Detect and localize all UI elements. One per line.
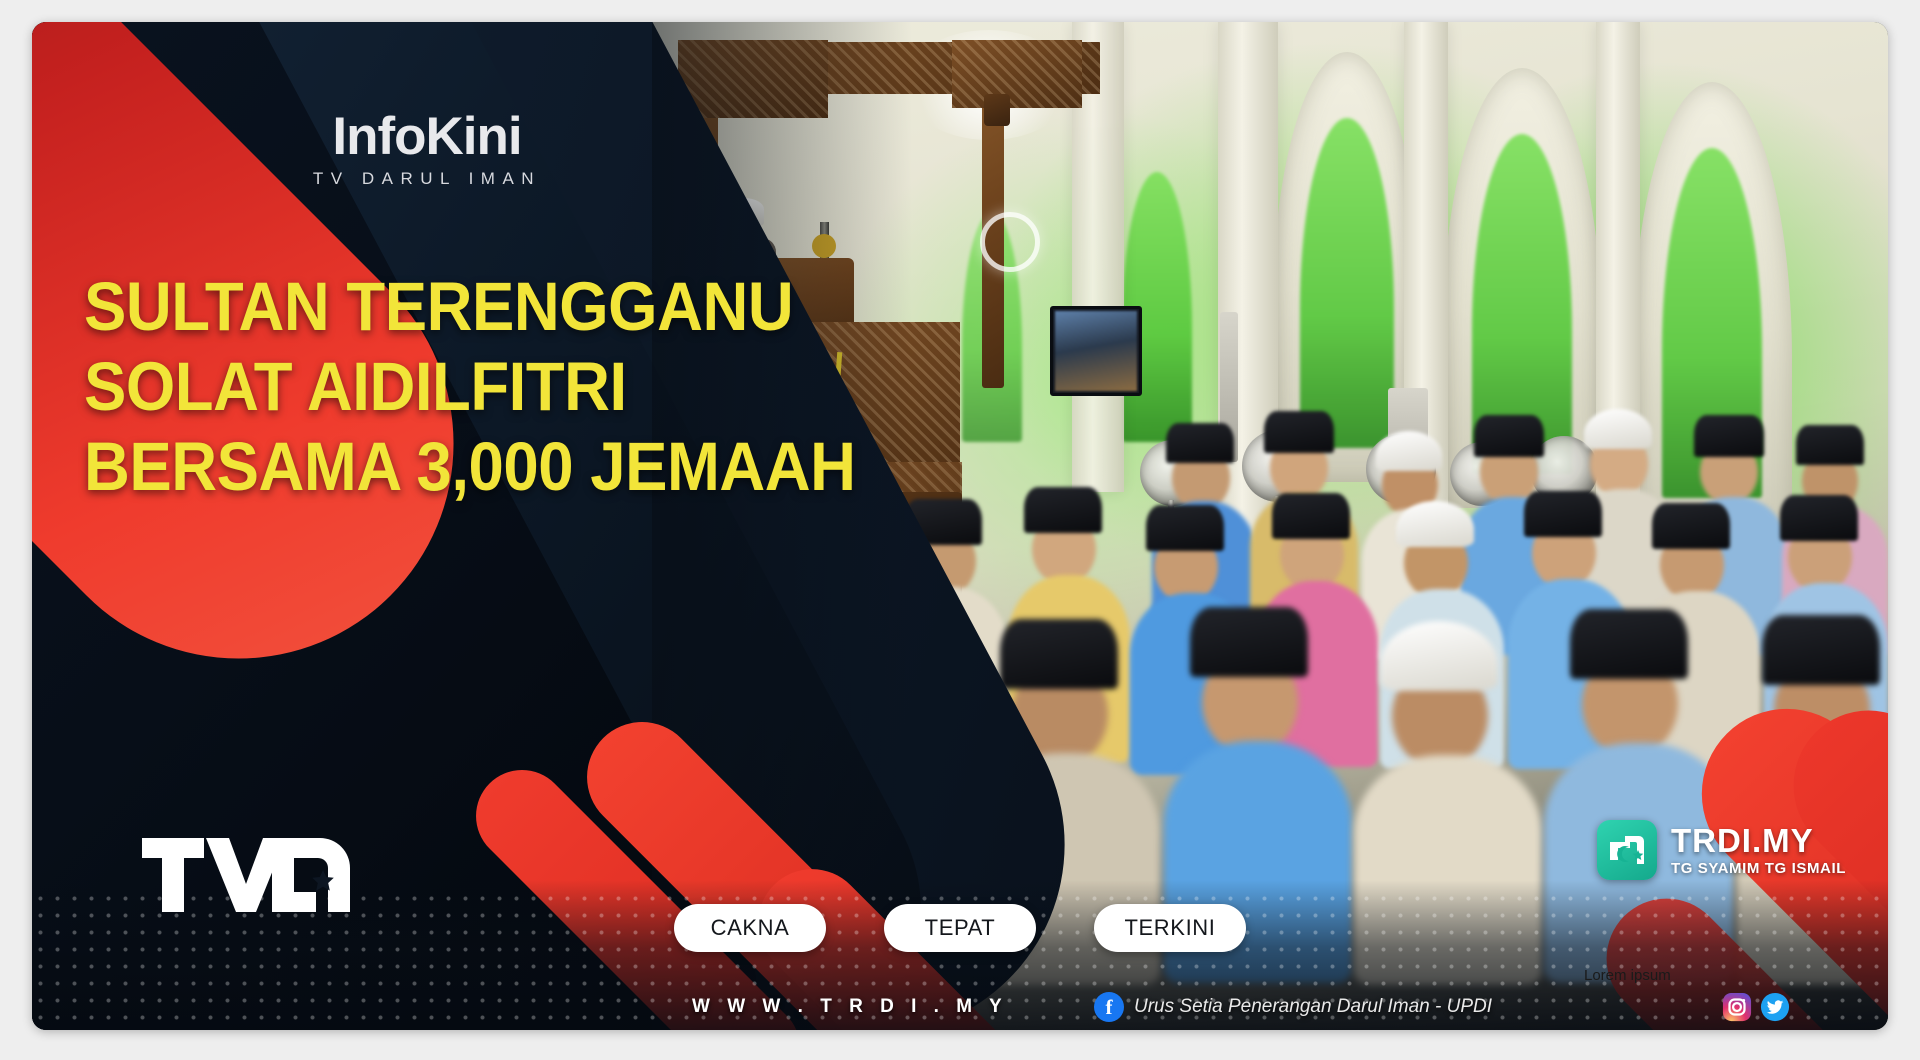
brand-tagline: TV DARUL IMAN bbox=[212, 169, 642, 189]
headline-line-3: BERSAMA 3,000 JEMAAH bbox=[84, 427, 746, 507]
trdi-badge: TRDI.MY TG SYAMIM TG ISMAIL bbox=[1597, 820, 1846, 880]
trdi-text: TRDI.MY TG SYAMIM TG ISMAIL bbox=[1671, 824, 1846, 877]
placeholder-text: Lorem ipsum bbox=[1584, 967, 1671, 984]
headline-line-1: SULTAN TERENGGANU bbox=[84, 267, 746, 347]
infokini-logo: InfoKini TV DARUL IMAN bbox=[212, 110, 642, 189]
twitter-icon[interactable] bbox=[1760, 992, 1790, 1022]
brand-name: InfoKini bbox=[212, 110, 642, 163]
pill-terkini[interactable]: TERKINI bbox=[1094, 904, 1246, 952]
website-url: W W W . T R D I . M Y bbox=[692, 996, 1008, 1018]
pill-tepat[interactable]: TEPAT bbox=[884, 904, 1036, 952]
facebook-credit: f Urus Setia Penerangan Darul Iman - UPD… bbox=[1094, 992, 1492, 1022]
facebook-icon: f bbox=[1094, 992, 1124, 1022]
tagline-pills: CAKNA TEPAT TERKINI bbox=[32, 904, 1888, 952]
trdi-icon-glyph bbox=[1607, 830, 1647, 870]
footer-bar: W W W . T R D I . M Y f Urus Setia Pener… bbox=[32, 984, 1888, 1030]
pill-cakna[interactable]: CAKNA bbox=[674, 904, 826, 952]
trdi-title: TRDI.MY bbox=[1671, 824, 1846, 857]
news-thumbnail-card: InfoKini TV DARUL IMAN SULTAN TERENGGANU… bbox=[32, 22, 1888, 1030]
headline-line-2: SOLAT AIDILFITRI bbox=[84, 347, 746, 427]
trdi-app-icon bbox=[1597, 820, 1657, 880]
instagram-icon[interactable] bbox=[1722, 992, 1752, 1022]
headline: SULTAN TERENGGANU SOLAT AIDILFITRI BERSA… bbox=[84, 267, 746, 507]
social-icons bbox=[1722, 992, 1790, 1022]
trdi-subtitle: TG SYAMIM TG ISMAIL bbox=[1671, 860, 1846, 877]
facebook-page-name: Urus Setia Penerangan Darul Iman - UPDI bbox=[1134, 996, 1492, 1018]
